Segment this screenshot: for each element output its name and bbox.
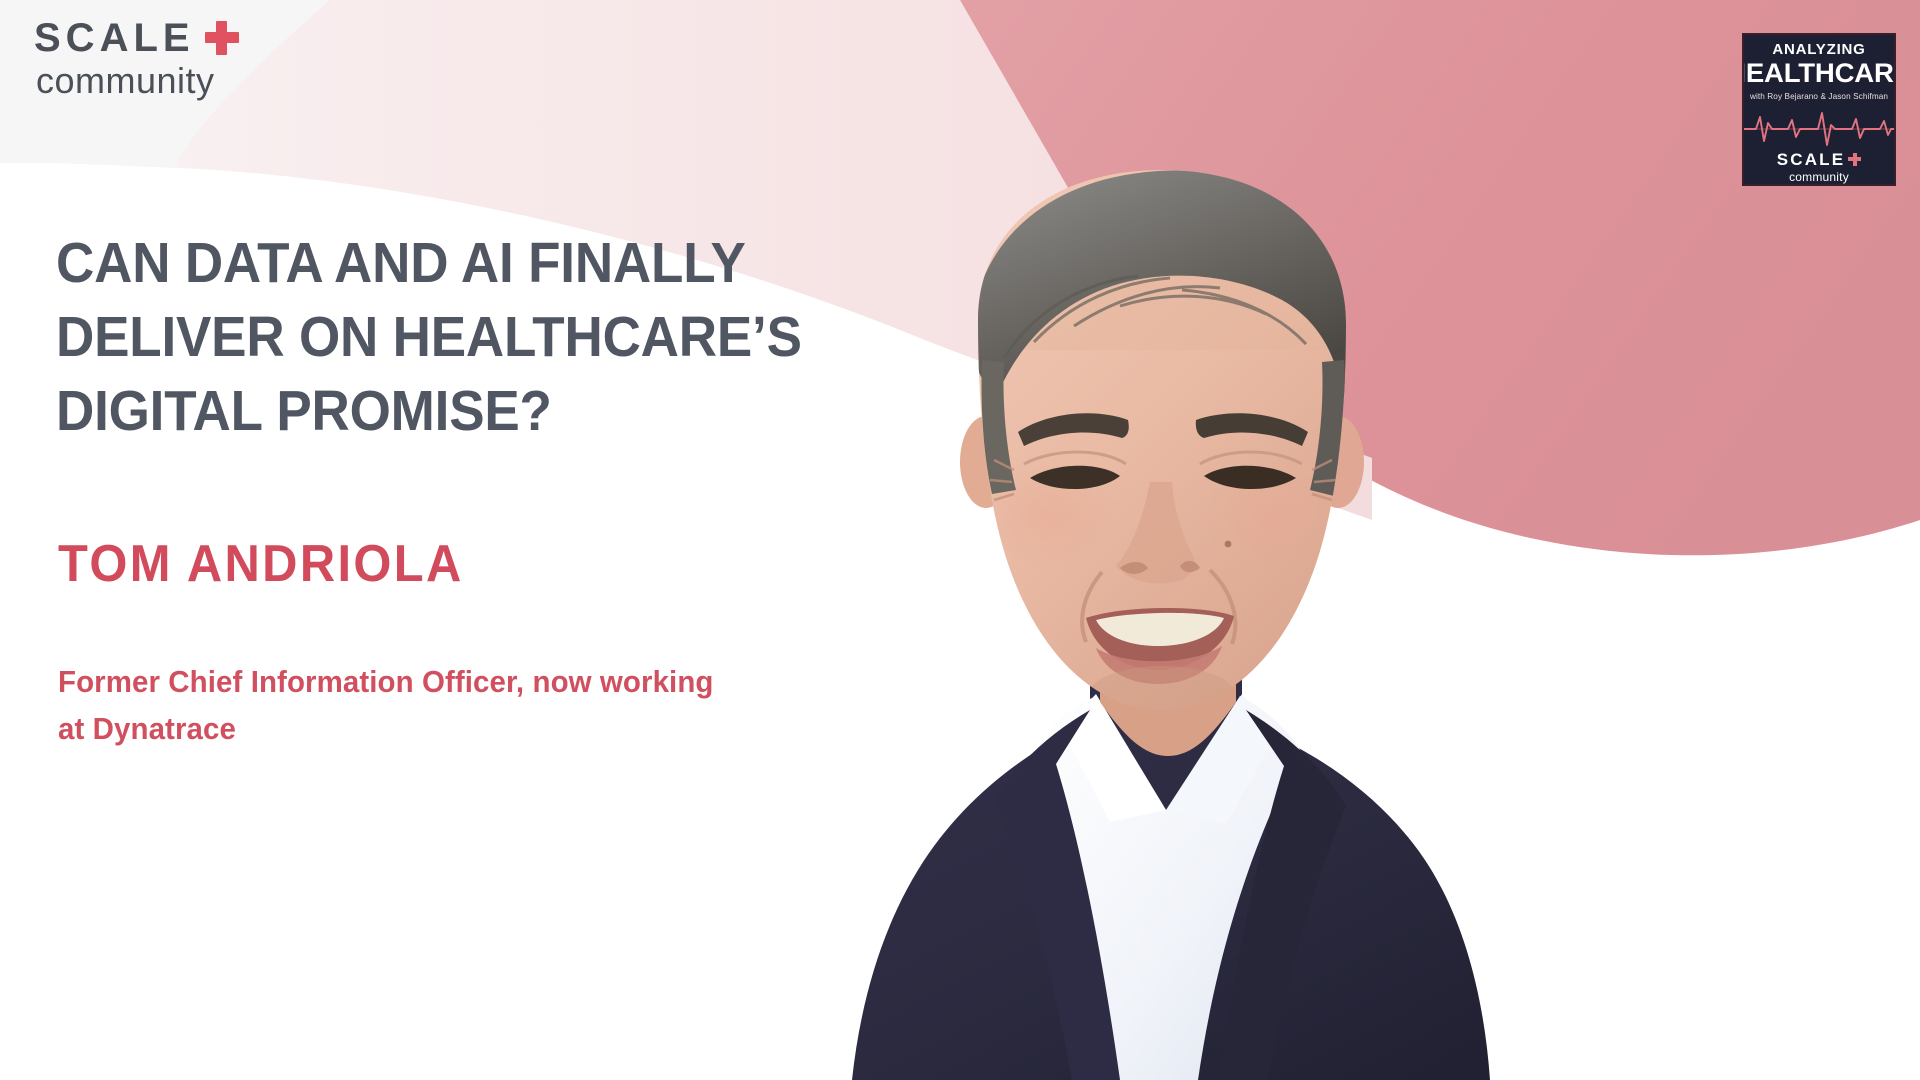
cheek-highlight-right <box>1204 458 1348 570</box>
suit-lapel-right <box>1218 710 1346 1080</box>
nose <box>1116 482 1195 584</box>
pink-sliver-center <box>1190 370 1372 520</box>
headline-line-1: CAN DATA AND AI FINALLY <box>56 226 837 300</box>
eyebrow-right <box>1196 413 1308 446</box>
suit-jacket <box>852 670 1490 1080</box>
podcast-badge-hosts: with Roy Bejarano & Jason Schifman <box>1750 93 1888 101</box>
mouth <box>1086 608 1234 670</box>
speaker-info: TOM ANDRIOLA Former Chief Information Of… <box>58 536 938 752</box>
podcast-badge-scale-text: SCALE <box>1777 151 1846 168</box>
brand-logo-community-text: community <box>36 60 239 101</box>
hair-strands <box>1004 276 1306 358</box>
podcast-badge-brand-row: SCALE <box>1777 151 1862 168</box>
neck-shadow <box>1100 596 1236 659</box>
lower-lip <box>1096 646 1222 684</box>
eye-crease-left <box>1024 452 1126 464</box>
teeth <box>1096 613 1224 646</box>
episode-title-card: SCALE community CAN DATA AND AI FINALLY … <box>0 0 1920 1080</box>
eye-crease-right <box>1200 452 1302 464</box>
nasolabial-right <box>1210 570 1235 644</box>
headline-line-2: DELIVER ON HEALTHCARE’S <box>56 300 837 374</box>
neck <box>1100 596 1236 756</box>
face <box>978 170 1346 710</box>
dress-shirt <box>1032 696 1300 1080</box>
ear-left <box>960 416 1012 508</box>
heartbeat-ekg-icon <box>1744 107 1894 147</box>
headline-line-3: DIGITAL PROMISE? <box>56 374 837 448</box>
hair-sideburn-right <box>1310 360 1346 496</box>
crows-feet-right <box>1312 460 1336 500</box>
crows-feet-left <box>990 460 1014 500</box>
speaker-name: TOM ANDRIOLA <box>58 536 885 593</box>
chin-shading <box>1088 666 1236 726</box>
suit-lapel-left <box>994 710 1120 1080</box>
podcast-badge-title-line-1: ANALYZING <box>1772 42 1865 57</box>
podcast-badge[interactable]: ANALYZING HEALTHCARE with Roy Bejarano &… <box>1742 33 1896 186</box>
brand-logo-wordmark-row: SCALE <box>34 18 239 58</box>
eye-left <box>1030 466 1120 489</box>
forehead-shading <box>986 267 1338 350</box>
eyebrow-left <box>1018 413 1129 446</box>
ear-right <box>1312 416 1364 508</box>
brand-logo-scale-text: SCALE <box>34 18 195 58</box>
hair <box>972 171 1357 398</box>
cheek-highlight-left <box>976 458 1120 570</box>
eye-right <box>1204 466 1296 489</box>
shirt-collar-right <box>1168 694 1278 824</box>
plus-icon <box>1848 153 1861 166</box>
shirt-collar-left <box>1062 694 1166 822</box>
hair-sideburn-left <box>981 360 1016 494</box>
cheek-mark <box>1225 541 1232 548</box>
podcast-badge-title-line-2: HEALTHCARE <box>1742 59 1896 87</box>
nostril-right <box>1180 561 1200 572</box>
nostril-left <box>1120 562 1148 574</box>
podcast-badge-community-text: community <box>1789 171 1849 183</box>
speaker-role: Former Chief Information Officer, now wo… <box>58 659 723 752</box>
brand-logo: SCALE community <box>34 18 239 101</box>
plus-icon <box>205 21 239 55</box>
nasolabial-left <box>1082 572 1102 642</box>
episode-headline: CAN DATA AND AI FINALLY DELIVER ON HEALT… <box>56 226 896 448</box>
